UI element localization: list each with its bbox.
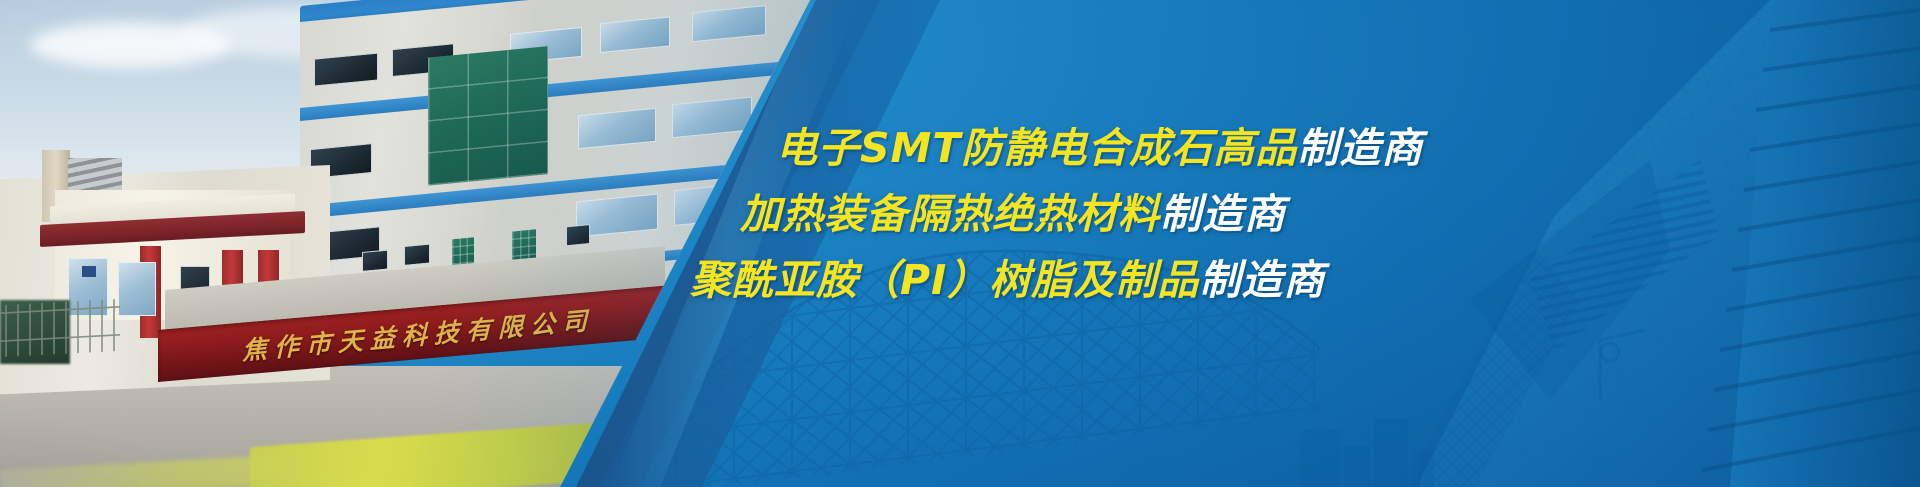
headline-line-1: 电子SMT防静电合成石高品制造商 bbox=[776, 118, 1650, 178]
company-hero-banner: 焦作市天益科技有限公司 电子SMT防静电合成石高品制造商 加热装备隔热绝热材料制… bbox=[0, 0, 1920, 487]
headline-line-1-white: 制造商 bbox=[1297, 124, 1423, 172]
headline-block: 电子SMT防静电合成石高品制造商 加热装备隔热绝热材料制造商 聚酰亚胺（PI）树… bbox=[690, 118, 1650, 310]
headline-line-2: 加热装备隔热绝热材料制造商 bbox=[740, 184, 1650, 244]
headline-line-2-white: 制造商 bbox=[1160, 190, 1286, 238]
headline-line-3: 聚酰亚胺（PI）树脂及制品制造商 bbox=[690, 250, 1650, 310]
headline-line-3-highlight: 聚酰亚胺（PI）树脂及制品 bbox=[690, 256, 1199, 304]
headline-line-1-highlight: 电子SMT防静电合成石高品 bbox=[776, 124, 1297, 172]
headline-line-3-white: 制造商 bbox=[1199, 256, 1325, 304]
headline-line-2-highlight: 加热装备隔热绝热材料 bbox=[740, 190, 1160, 238]
